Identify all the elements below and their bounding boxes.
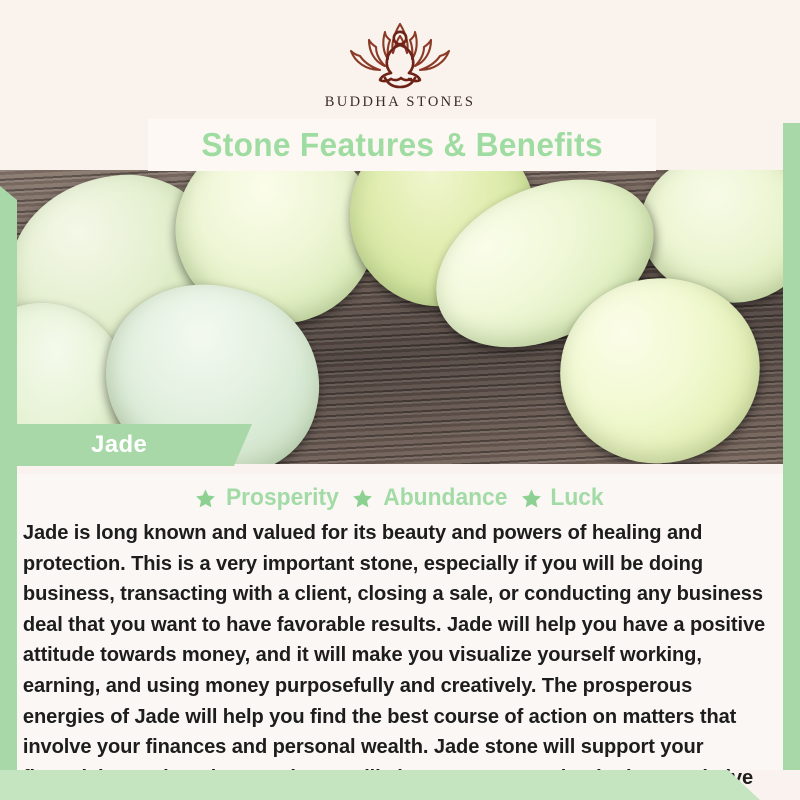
infographic-card: BUDDHA STONES Stone Features & Benefits … (0, 0, 800, 800)
star-icon (352, 488, 373, 509)
benefit-label: Prosperity (226, 484, 339, 512)
benefit-item: Abundance (352, 484, 511, 512)
content-inner: Prosperity Abundance Luck Jade is long k… (17, 474, 783, 770)
lotus-meditation-icon (325, 18, 475, 90)
stone-name-band: Jade (17, 424, 252, 466)
star-icon (195, 488, 216, 509)
benefit-label: Abundance (383, 484, 507, 512)
benefits-list: Prosperity Abundance Luck (17, 484, 783, 512)
page-title: Stone Features & Benefits (201, 126, 603, 164)
benefit-label: Luck (550, 484, 603, 512)
benefit-item: Prosperity (195, 484, 342, 512)
left-accent-rail-lower (0, 464, 17, 770)
brand-name: BUDDHA STONES (0, 94, 800, 111)
benefit-item: Luck (521, 484, 605, 512)
title-plate: Stone Features & Benefits (148, 119, 656, 171)
star-icon (521, 488, 542, 509)
stone-photo (0, 168, 800, 464)
left-accent-rail (0, 186, 17, 464)
footer-accent-band (0, 770, 800, 800)
right-accent-rail (783, 123, 800, 464)
brand-logo: BUDDHA STONES (0, 18, 800, 111)
stone-name: Jade (91, 431, 147, 459)
content-panel: Prosperity Abundance Luck Jade is long k… (0, 464, 800, 800)
stone-description: Jade is long known and valued for its be… (17, 518, 772, 800)
right-accent-rail-lower (783, 464, 800, 770)
